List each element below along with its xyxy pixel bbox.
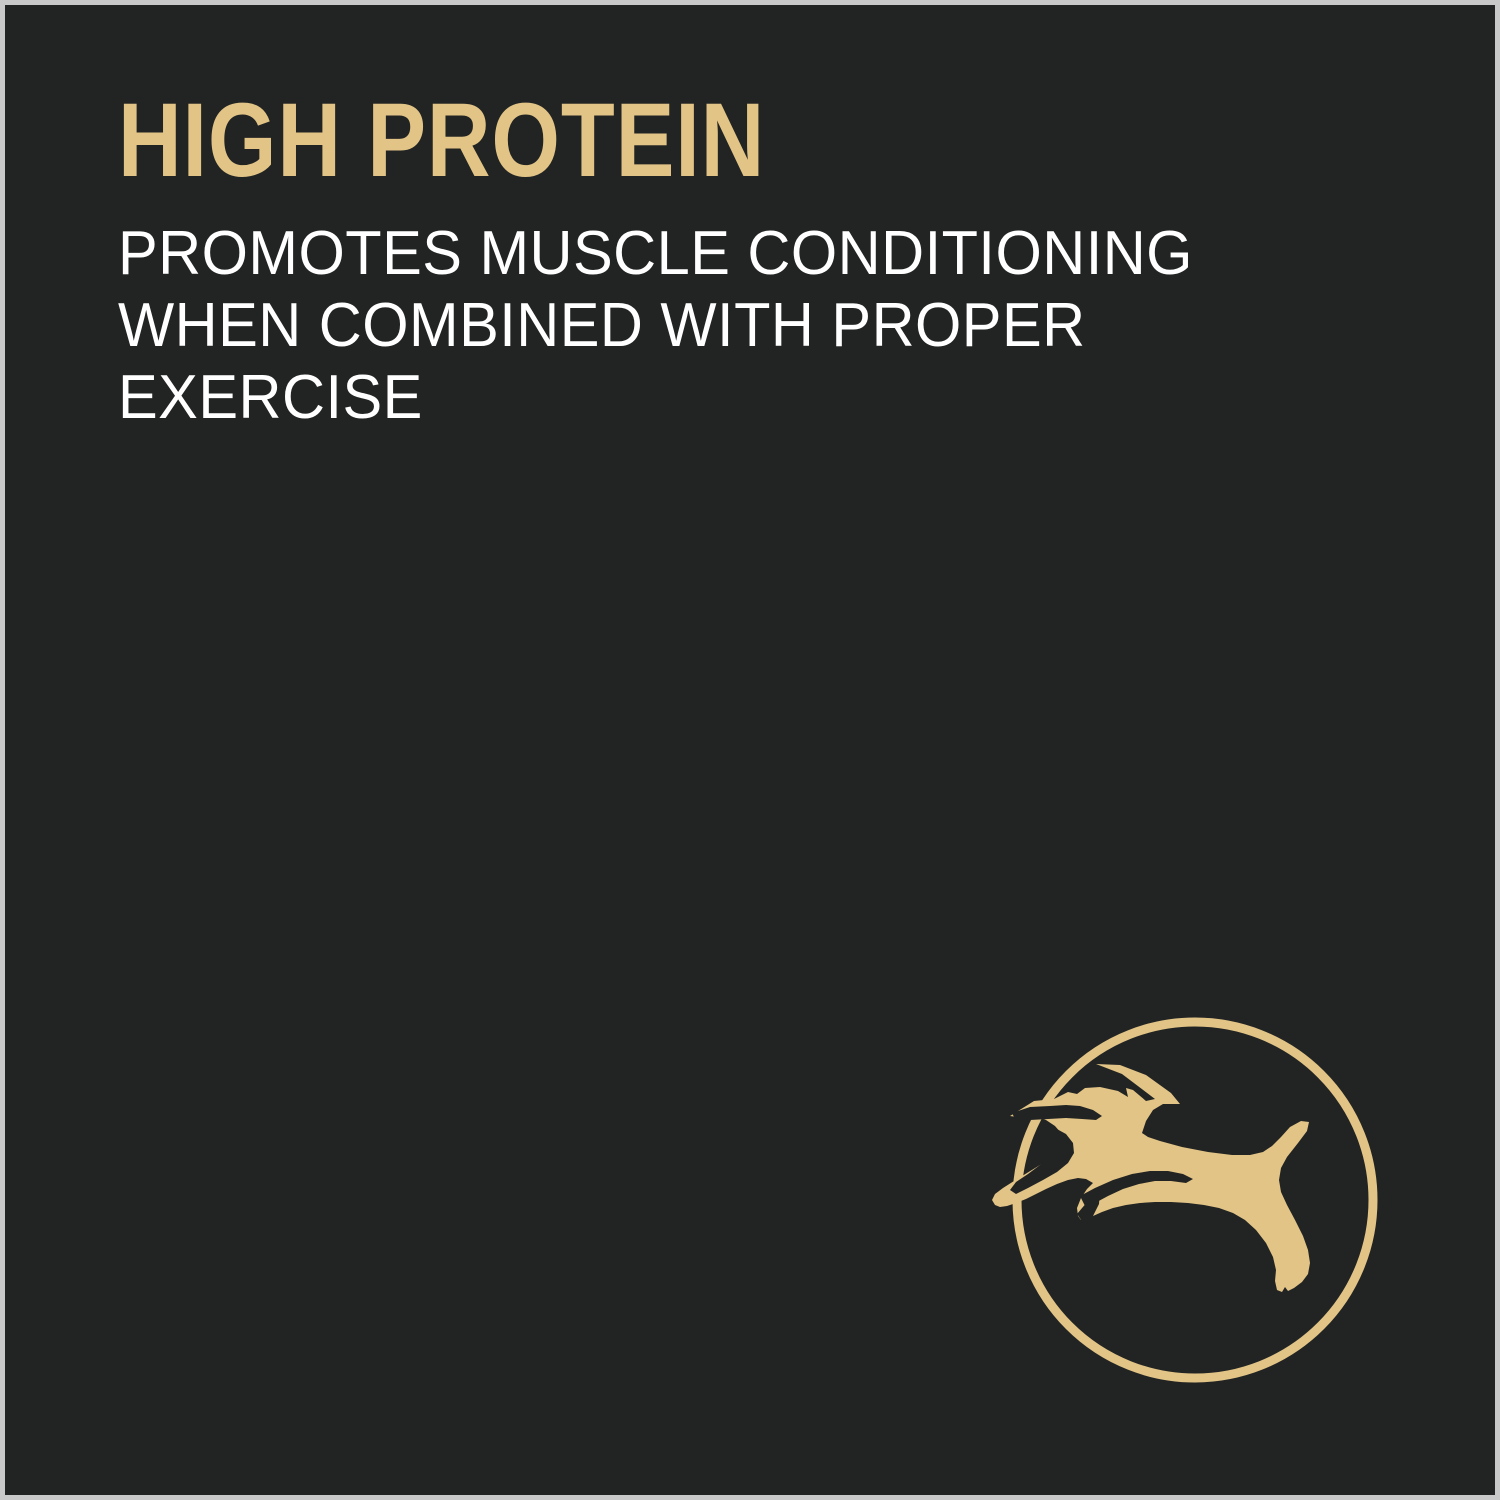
subtitle: PROMOTES MUSCLE CONDITIONING WHEN COMBIN… bbox=[118, 191, 1328, 434]
subtitle-line-3: EXERCISE bbox=[118, 362, 1328, 434]
dog-silhouette bbox=[992, 1064, 1310, 1292]
page-title: HIGH PROTEIN bbox=[118, 91, 1176, 191]
subtitle-line-2: WHEN COMBINED WITH PROPER bbox=[118, 290, 1328, 362]
subtitle-line-1: PROMOTES MUSCLE CONDITIONING bbox=[118, 218, 1328, 290]
ground-line-lower bbox=[1070, 1334, 1290, 1343]
brand-logo bbox=[950, 1000, 1390, 1400]
feature-callout-panel: HIGH PROTEIN PROMOTES MUSCLE CONDITIONIN… bbox=[0, 0, 1500, 1500]
ground-line-upper bbox=[1035, 1307, 1365, 1316]
text-block: HIGH PROTEIN PROMOTES MUSCLE CONDITIONIN… bbox=[118, 91, 1378, 434]
leaping-dog-icon bbox=[950, 1000, 1390, 1400]
